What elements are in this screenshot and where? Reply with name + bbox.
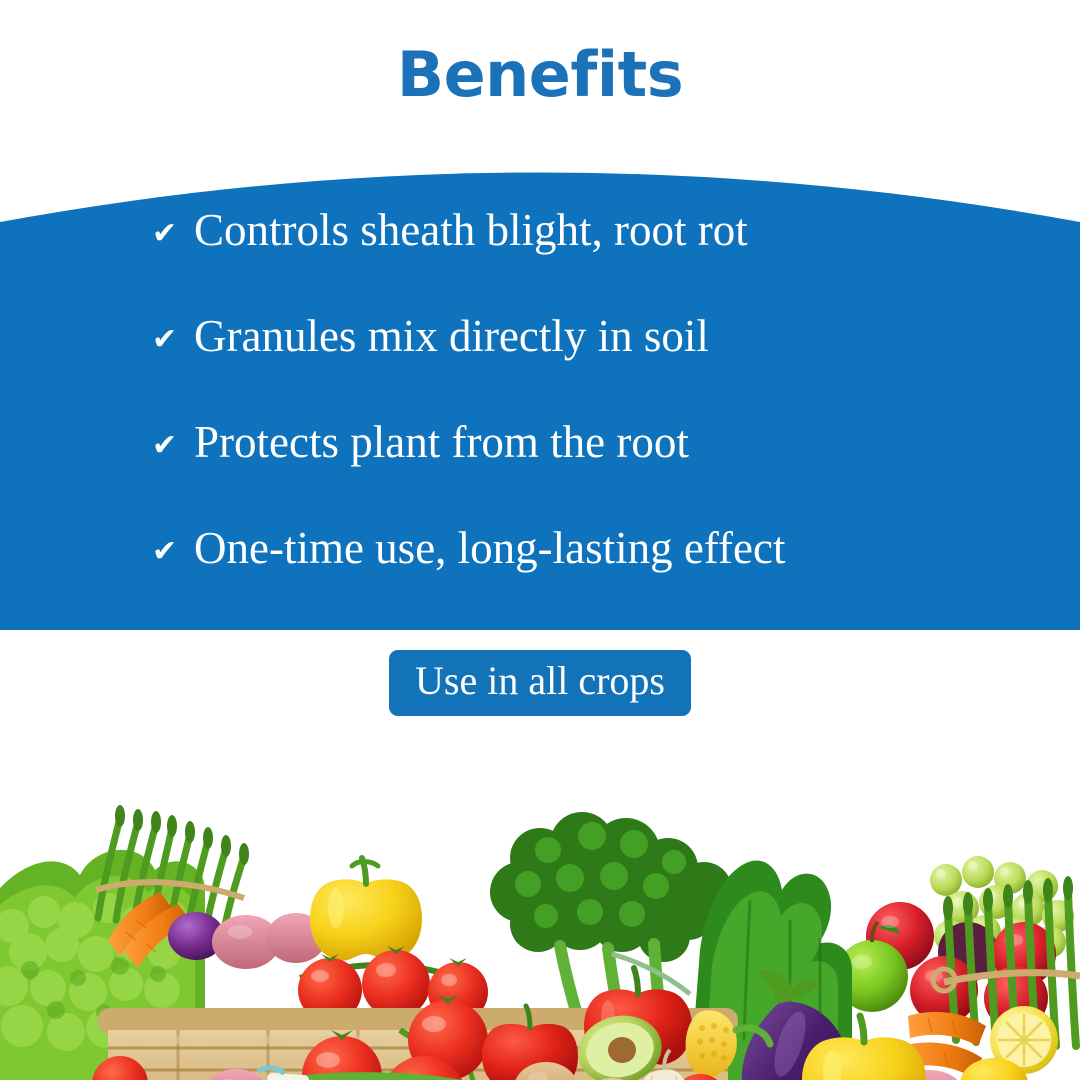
benefits-list: ✔ Controls sheath blight, root rot ✔ Gra… — [0, 145, 1080, 630]
produce-image — [0, 740, 1080, 1080]
page-title-zone: Benefits — [0, 0, 1080, 150]
check-icon: ✔ — [152, 325, 194, 355]
use-in-all-crops-badge: Use in all crops — [389, 650, 691, 716]
benefit-label: Controls sheath blight, root rot — [194, 207, 748, 254]
benefits-panel: ✔ Controls sheath blight, root rot ✔ Gra… — [0, 145, 1080, 630]
check-icon: ✔ — [152, 537, 194, 567]
benefit-item-1: ✔ Controls sheath blight, root rot — [0, 207, 1080, 313]
badge-zone: Use in all crops — [0, 630, 1080, 735]
benefit-label: One-time use, long-lasting effect — [194, 525, 785, 572]
benefits-poster: Benefits ✔ Controls sheath blight, root … — [0, 0, 1080, 1080]
benefit-item-4: ✔ One-time use, long-lasting effect — [0, 525, 1080, 631]
yellow-bell-pepper-left — [310, 858, 422, 961]
broccoli — [490, 812, 732, 1020]
benefit-item-3: ✔ Protects plant from the root — [0, 419, 1080, 525]
produce-illustration — [0, 740, 1080, 1080]
check-icon: ✔ — [152, 219, 194, 249]
benefit-label: Granules mix directly in soil — [194, 313, 709, 360]
benefit-label: Protects plant from the root — [194, 419, 689, 466]
benefit-item-2: ✔ Granules mix directly in soil — [0, 313, 1080, 419]
page-title: Benefits — [397, 44, 683, 106]
check-icon: ✔ — [152, 431, 194, 461]
